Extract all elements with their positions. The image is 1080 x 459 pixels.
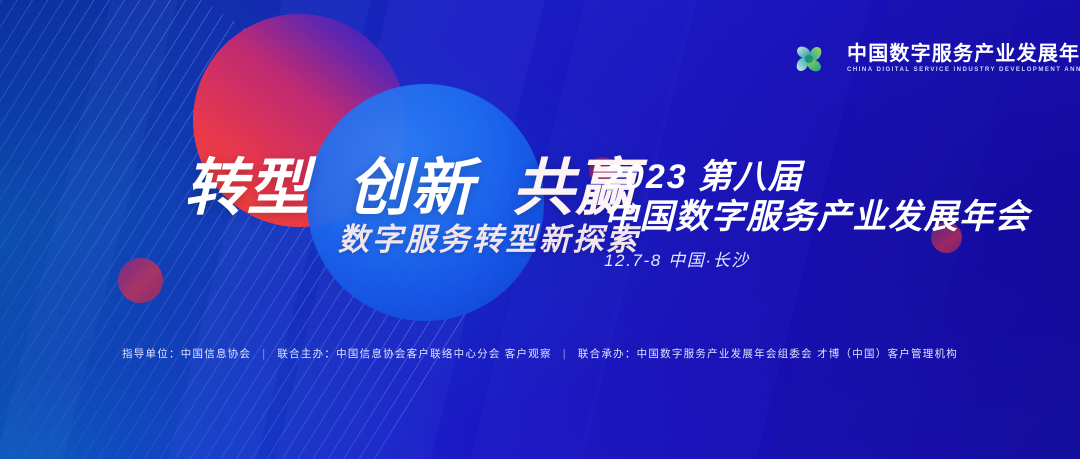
brand-logo: 中国数字服务产业发展年会 CHINA DIGITAL SERVICE INDUS… <box>782 32 1080 86</box>
event-year-edition: 2023第八届 <box>604 160 1030 195</box>
four-petal-pinwheel-logo-icon <box>782 32 836 86</box>
event-title: 中国数字服务产业发展年会 <box>604 197 1030 237</box>
slogan-word-1: 转型 <box>184 158 310 220</box>
event-title-block: 2023第八届 中国数字服务产业发展年会 12.7-8 中国·长沙 <box>604 160 1030 271</box>
footer-co-hosts: 联合承办：中国数字服务产业发展年会组委会 才博（中国）客户管理机构 <box>578 346 958 361</box>
footer-guidance-unit: 指导单位：中国信息协会 <box>122 346 251 361</box>
footer-separator: | <box>260 348 268 360</box>
brand-name-en: CHINA DIGITAL SERVICE INDUSTRY DEVELOPME… <box>847 67 1080 73</box>
event-date-location: 12.7-8 中国·长沙 <box>604 246 1030 271</box>
footer-co-organizers: 联合主办：中国信息协会客户联络中心分会 客户观察 <box>277 346 551 361</box>
decorative-plum-circle-left <box>118 258 163 303</box>
event-edition: 第八届 <box>698 158 803 196</box>
brand-logo-text: 中国数字服务产业发展年会 CHINA DIGITAL SERVICE INDUS… <box>847 44 1080 73</box>
diagonal-streaks-bottom-left <box>0 83 471 459</box>
event-year: 2023 <box>604 158 688 196</box>
main-slogan: 转型 创新 共赢 <box>184 158 638 220</box>
facet-panel <box>0 0 193 459</box>
slogan-subtitle: 数字服务转型新探索 <box>338 224 640 255</box>
brand-name-cn: 中国数字服务产业发展年会 <box>847 44 1080 64</box>
footer-separator: | <box>561 348 569 360</box>
footer-organizers: 指导单位：中国信息协会 | 联合主办：中国信息协会客户联络中心分会 客户观察 |… <box>0 346 1080 361</box>
conference-key-visual-banner: 中国数字服务产业发展年会 CHINA DIGITAL SERVICE INDUS… <box>0 0 1080 459</box>
slogan-word-2: 创新 <box>348 158 474 220</box>
